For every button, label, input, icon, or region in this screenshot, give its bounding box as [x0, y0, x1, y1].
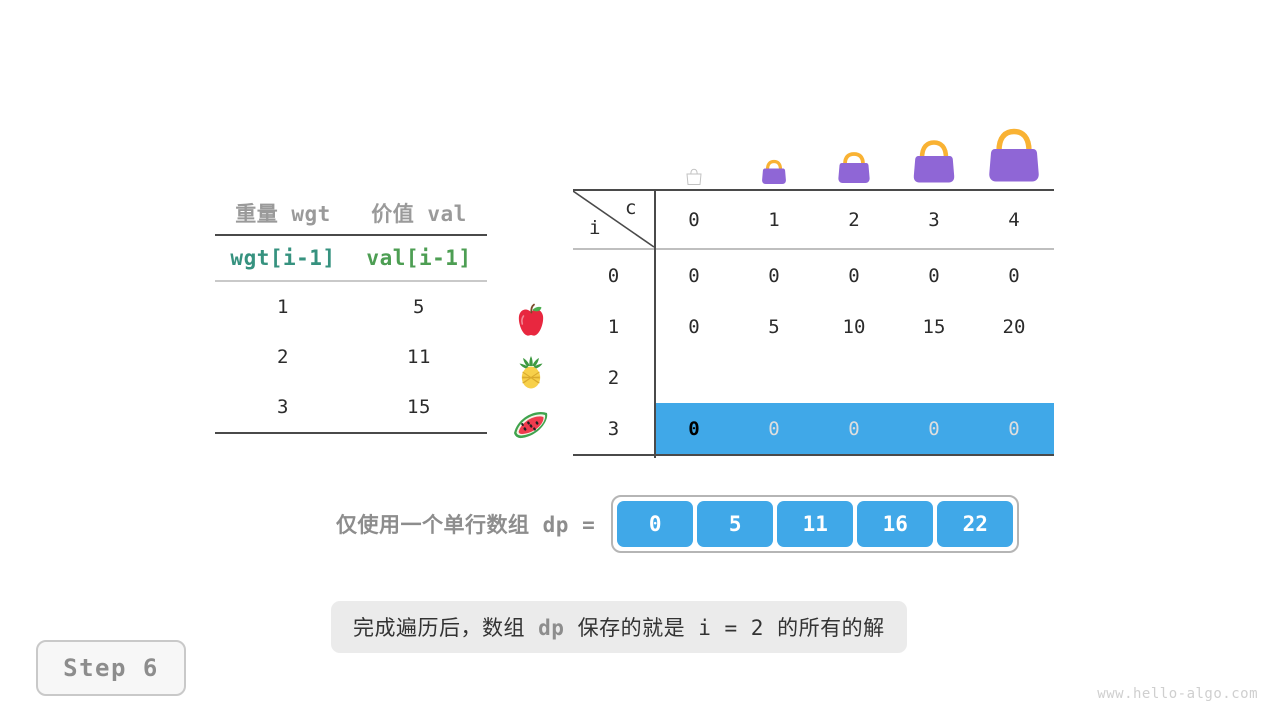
dp-table-row-index: 2	[573, 367, 654, 389]
left-table-row: 2 11	[215, 332, 487, 382]
dp-table-cell: 0	[814, 265, 894, 287]
apple-icon	[505, 295, 557, 346]
left-table-row: 1 5	[215, 282, 487, 332]
dp-table-cell: 16	[894, 367, 974, 389]
dp-table-cell: 0	[654, 265, 734, 287]
dp-table-cell: 10	[814, 316, 894, 338]
caption-part1: 完成遍历后，数组	[353, 616, 538, 640]
left-table-header-row: 重量 wgt 价值 val	[215, 192, 487, 234]
left-table-cell-wgt: 1	[215, 296, 351, 318]
left-table-cell-val: 5	[351, 296, 487, 318]
dp-table-cell: 0	[734, 265, 814, 287]
dp-table-cell: 22	[974, 367, 1054, 389]
dp-table-row: 0 0 0 0 0 0	[573, 250, 1054, 301]
dp-array-cell: 0	[617, 501, 693, 547]
dp-table-cell: 20	[974, 316, 1054, 338]
dp-array-cell: 22	[937, 501, 1013, 547]
left-table-header-value: 价值 val	[351, 198, 487, 228]
bag-icon-empty	[654, 118, 734, 186]
dp-table-capacity-header: 3	[894, 209, 974, 231]
left-table-cell-wgt: 2	[215, 346, 351, 368]
dp-table-row-highlighted: 2 0 5 11 16 22	[573, 352, 1054, 403]
dp-table-cell: 0	[814, 418, 894, 440]
dp-table-capacity-header: 1	[734, 209, 814, 231]
dp-table-cell: 0	[974, 418, 1054, 440]
left-table-row: 3 15	[215, 382, 487, 432]
dp-table-row: 1 0 5 10 15 20	[573, 301, 1054, 352]
dp-array-cell: 5	[697, 501, 773, 547]
dp-table-cell: 0	[734, 418, 814, 440]
dp-table-header-row: 0 1 2 3 4	[573, 191, 1054, 248]
weight-value-table: 重量 wgt 价值 val wgt[i-1] val[i-1] 1 5 2 11…	[215, 192, 487, 434]
dp-table-capacity-header: 0	[654, 209, 734, 231]
left-table-cell-val: 15	[351, 396, 487, 418]
dp-array-container: 0 5 11 16 22	[611, 495, 1019, 553]
dp-array-section: 仅使用一个单行数组 dp = 0 5 11 16 22	[336, 495, 1019, 553]
dp-table-vertical-divider	[654, 189, 656, 458]
dp-table-row-pending: 3 0 0 0 0 0	[573, 403, 1054, 454]
left-table-subheader-wgt: wgt[i-1]	[215, 246, 351, 270]
dp-table-cell: 0	[974, 265, 1054, 287]
watermark: www.hello-algo.com	[1097, 686, 1258, 702]
dp-table-corner-label-c: c	[625, 197, 636, 219]
dp-table-corner-label-i: i	[589, 217, 600, 239]
left-table-cell-wgt: 3	[215, 396, 351, 418]
dp-table-row-index: 0	[573, 265, 654, 287]
watermelon-icon	[505, 397, 557, 448]
step-badge: Step 6	[36, 640, 186, 696]
dp-table-row-index: 1	[573, 316, 654, 338]
caption-dp-token: dp	[538, 616, 564, 640]
dp-table-cell: 5	[734, 316, 814, 338]
left-table-header-weight: 重量 wgt	[215, 198, 351, 228]
bag-icon-size3	[894, 118, 974, 186]
dp-table-cell: 0	[654, 367, 734, 389]
dp-table-cell: 0	[894, 265, 974, 287]
left-table-subheader-row: wgt[i-1] val[i-1]	[215, 236, 487, 280]
dp-table-capacity-header: 2	[814, 209, 894, 231]
knapsack-capacity-icons	[654, 118, 1054, 186]
dp-table-rule-bottom	[573, 454, 1054, 456]
pineapple-icon	[505, 346, 557, 397]
bag-icon-size2	[814, 118, 894, 186]
bag-icon-size1	[734, 118, 814, 186]
bag-icon-size4	[974, 118, 1054, 186]
dp-table-row-index: 3	[573, 418, 654, 440]
caption-part2: 保存的就是 i = 2 的所有的解	[564, 616, 884, 640]
dp-table-cell: 15	[894, 316, 974, 338]
left-table-rule-bottom	[215, 432, 487, 434]
dp-table-cell: 0	[654, 316, 734, 338]
dp-array-cell: 11	[777, 501, 853, 547]
dp-table-capacity-header: 4	[974, 209, 1054, 231]
dp-table: i c 0 1 2 3 4 0 0 0 0 0 0 1 0 5	[573, 189, 1054, 456]
left-table-subheader-val: val[i-1]	[351, 246, 487, 270]
dp-array-cell: 16	[857, 501, 933, 547]
fruit-icon-column	[505, 295, 557, 448]
dp-table-cell: 0	[654, 418, 734, 440]
dp-array-label: 仅使用一个单行数组 dp =	[336, 509, 595, 539]
dp-table-cell: 0	[894, 418, 974, 440]
left-table-cell-val: 11	[351, 346, 487, 368]
caption-banner: 完成遍历后，数组 dp 保存的就是 i = 2 的所有的解	[331, 601, 907, 653]
dp-table-cell: 11	[814, 367, 894, 389]
dp-table-cell: 5	[734, 367, 814, 389]
